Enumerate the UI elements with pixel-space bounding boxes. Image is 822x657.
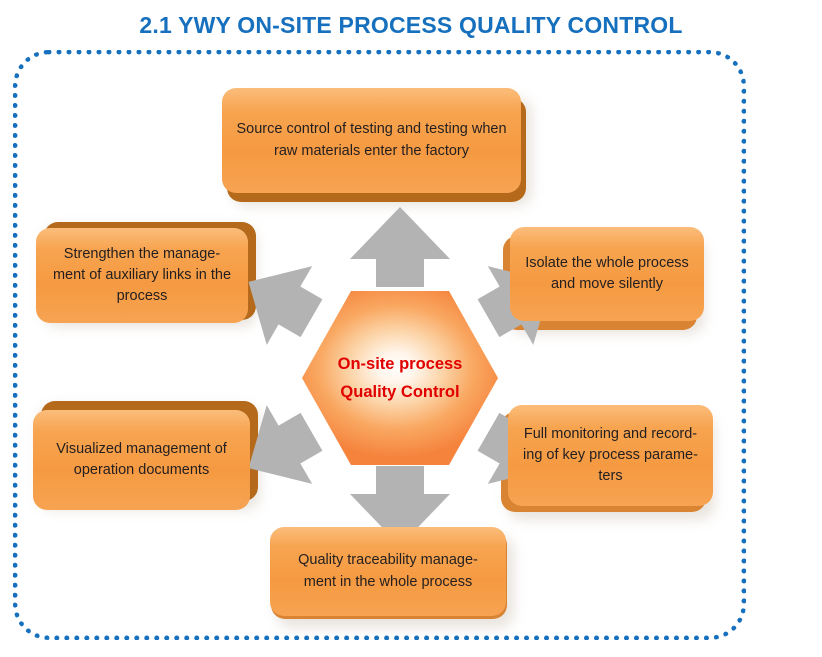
node-label-upper-left: Strengthen the manage-ment of auxiliary … bbox=[50, 244, 234, 307]
hub-line-1: On-site process bbox=[338, 356, 463, 373]
hub-line-2: Quality Control bbox=[340, 384, 459, 401]
arrow-up bbox=[345, 207, 455, 287]
node-box-top[interactable]: Source control of testing and testing wh… bbox=[222, 88, 521, 193]
node-label-lower-right: Full monitoring and record-ing of key pr… bbox=[522, 424, 699, 487]
node-label-lower-left: Visualized management of operation docum… bbox=[47, 439, 236, 481]
node-box-upper-left[interactable]: Strengthen the manage-ment of auxiliary … bbox=[36, 228, 248, 323]
node-box-lower-left[interactable]: Visualized management of operation docum… bbox=[33, 410, 250, 510]
node-label-upper-right: Isolate the whole process and move silen… bbox=[524, 253, 690, 295]
node-box-bottom[interactable]: Quality traceability manage-ment in the … bbox=[270, 527, 506, 616]
node-box-upper-right[interactable]: Isolate the whole process and move silen… bbox=[510, 227, 704, 321]
node-box-lower-right[interactable]: Full monitoring and record-ing of key pr… bbox=[508, 405, 713, 506]
node-label-top: Source control of testing and testing wh… bbox=[236, 119, 507, 161]
process-diagram: On-site process Quality Control Source c… bbox=[0, 0, 822, 657]
node-label-bottom: Quality traceability manage-ment in the … bbox=[284, 550, 492, 592]
